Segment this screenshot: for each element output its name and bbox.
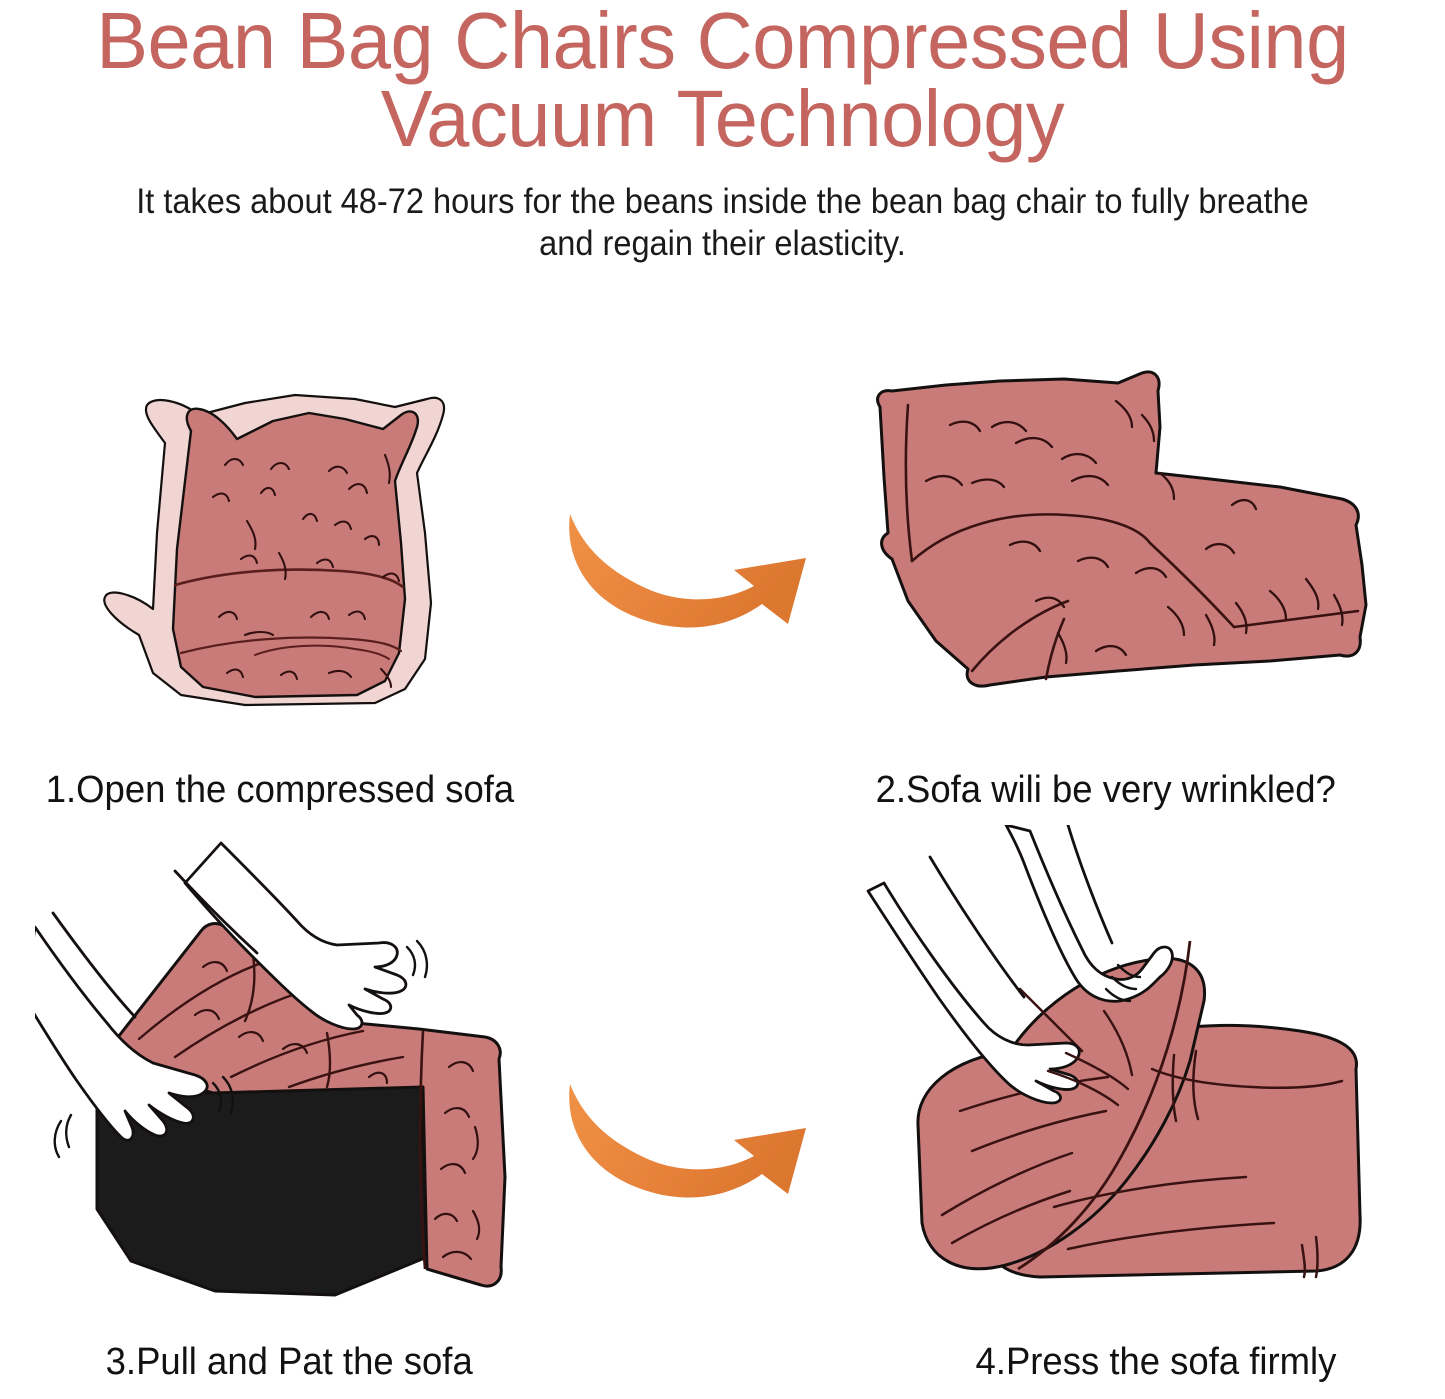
infographic-page: Bean Bag Chairs Compressed Using Vacuum … bbox=[0, 0, 1445, 1399]
hands-patting-sofa-icon bbox=[35, 825, 575, 1325]
wrinkled-sofa-icon bbox=[850, 365, 1400, 735]
step-4-illustration bbox=[860, 825, 1380, 1325]
hands-pressing-beanbag-icon bbox=[860, 825, 1380, 1325]
step-3-illustration bbox=[35, 825, 575, 1325]
steps-grid: 1.Open the compressed sofa 2.Sofa wili b… bbox=[0, 355, 1445, 1399]
step-1-illustration bbox=[95, 373, 515, 713]
step-1-caption: 1.Open the compressed sofa bbox=[46, 769, 514, 812]
curved-arrow-step3-to-step4 bbox=[548, 1060, 848, 1220]
step-2-caption: 2.Sofa wili be very wrinkled? bbox=[876, 769, 1336, 812]
step-2-illustration bbox=[850, 365, 1400, 735]
step-3-caption: 3.Pull and Pat the sofa bbox=[106, 1341, 473, 1384]
step-4-caption: 4.Press the sofa firmly bbox=[976, 1341, 1337, 1384]
header: Bean Bag Chairs Compressed Using Vacuum … bbox=[0, 0, 1445, 266]
page-subtitle: It takes about 48-72 hours for the beans… bbox=[51, 159, 1395, 266]
curved-arrow-step1-to-step2 bbox=[548, 490, 848, 650]
compressed-bean-bag-icon bbox=[95, 373, 515, 713]
page-title: Bean Bag Chairs Compressed Using Vacuum … bbox=[22, 0, 1424, 159]
